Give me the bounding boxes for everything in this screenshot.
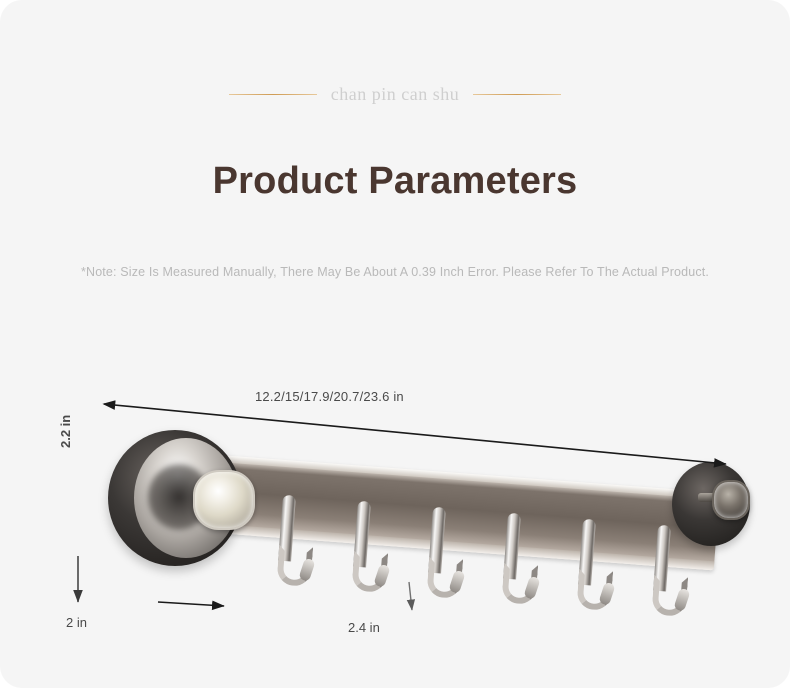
- hook: [576, 519, 617, 613]
- product-diagram: 12.2/15/17.9/20.7/23.6 in 2.2 in 2 in 2.…: [0, 330, 790, 688]
- divider-line-right: [473, 94, 561, 96]
- dimension-label-height: 2.2 in: [58, 415, 73, 448]
- hook: [651, 525, 692, 619]
- hook: [351, 501, 392, 595]
- suction-cup-left-knob: [193, 470, 255, 530]
- product-parameters-card: chan pin can shu Product Parameters *Not…: [0, 0, 790, 688]
- measurement-note: *Note: Size Is Measured Manually, There …: [0, 265, 790, 279]
- dimension-label-depth: 2 in: [66, 615, 87, 630]
- hook: [426, 507, 467, 601]
- hook: [276, 495, 317, 589]
- eyebrow-pinyin-text: chan pin can shu: [331, 84, 459, 105]
- eyebrow-row: chan pin can shu: [0, 84, 790, 105]
- suction-cup-right-knob: [712, 480, 750, 520]
- rack-bar-top-edge: [220, 455, 719, 499]
- hook-rack-illustration: [100, 420, 760, 630]
- divider-line-left: [229, 94, 317, 96]
- page-title: Product Parameters: [0, 160, 790, 203]
- hook: [501, 513, 542, 607]
- dimension-label-length: 12.2/15/17.9/20.7/23.6 in: [255, 389, 404, 404]
